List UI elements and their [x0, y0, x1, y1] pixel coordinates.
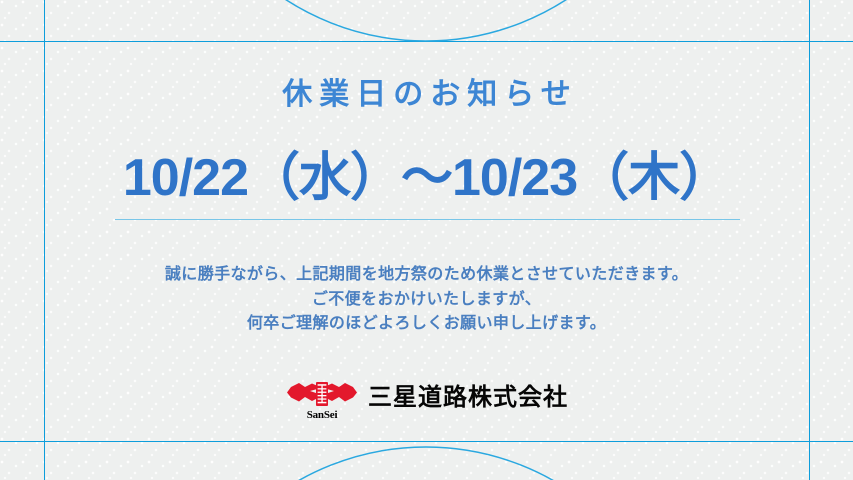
sansei-emblem-icon — [285, 378, 359, 410]
closure-date-range: 10/22（水）〜10/23（木） — [0, 146, 853, 210]
body-line: ご不便をおかけいたしますが、 — [0, 288, 853, 313]
company-name: 三星道路株式会社 — [368, 383, 568, 413]
notice-body-text: 誠に勝手ながら、上記期間を地方祭のため休業とさせていただきます。 ご不便をおかけ… — [0, 263, 853, 337]
page-title: 休業日のお知らせ — [0, 76, 853, 114]
body-line: 誠に勝手ながら、上記期間を地方祭のため休業とさせていただきます。 — [0, 263, 853, 288]
holiday-notice-card: 休業日のお知らせ 10/22（水）〜10/23（木） 誠に勝手ながら、上記期間を… — [0, 0, 853, 480]
logo-romaji-text: SanSei — [285, 408, 359, 422]
notice-content: 休業日のお知らせ 10/22（水）〜10/23（木） 誠に勝手ながら、上記期間を… — [0, 0, 853, 480]
company-logo-block: SanSei 三星道路株式会社 — [0, 378, 853, 424]
date-divider — [115, 219, 740, 220]
logo-mark: SanSei — [285, 378, 359, 424]
body-line: 何卒ご理解のほどよろしくお願い申し上げます。 — [0, 312, 853, 337]
